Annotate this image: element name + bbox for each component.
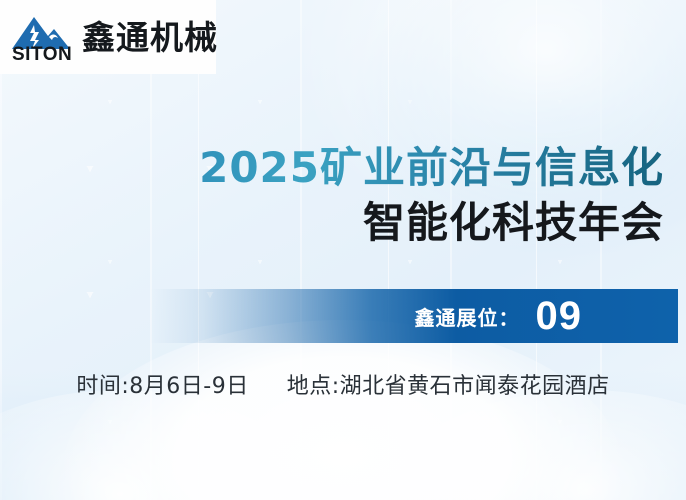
event-date: 时间:8月6日-9日 — [76, 368, 248, 400]
event-info-row: 时间:8月6日-9日 地点:湖北省黄石市闻泰花园酒店 — [0, 368, 686, 400]
booth-number: 09 — [536, 296, 583, 336]
logo-chinese-name: 鑫通机械 — [82, 21, 218, 54]
headline-line-1: 2025矿业前沿与信息化 — [0, 141, 664, 195]
logo-latin-name: SITON — [12, 44, 72, 66]
booth-banner: 鑫通展位： 09 — [150, 289, 678, 343]
headline-line-2: 智能化科技年会 — [0, 195, 664, 251]
event-poster: SITON 鑫通机械 2025矿业前沿与信息化 智能化科技年会 鑫通展位： 09… — [0, 0, 686, 500]
poster-headline: 2025矿业前沿与信息化 智能化科技年会 — [0, 141, 664, 251]
mountain-logo-icon: SITON — [8, 9, 74, 65]
brand-logo: SITON 鑫通机械 — [0, 0, 216, 74]
booth-label: 鑫通展位： — [415, 302, 520, 331]
event-venue: 地点:湖北省黄石市闻泰花园酒店 — [287, 368, 610, 400]
